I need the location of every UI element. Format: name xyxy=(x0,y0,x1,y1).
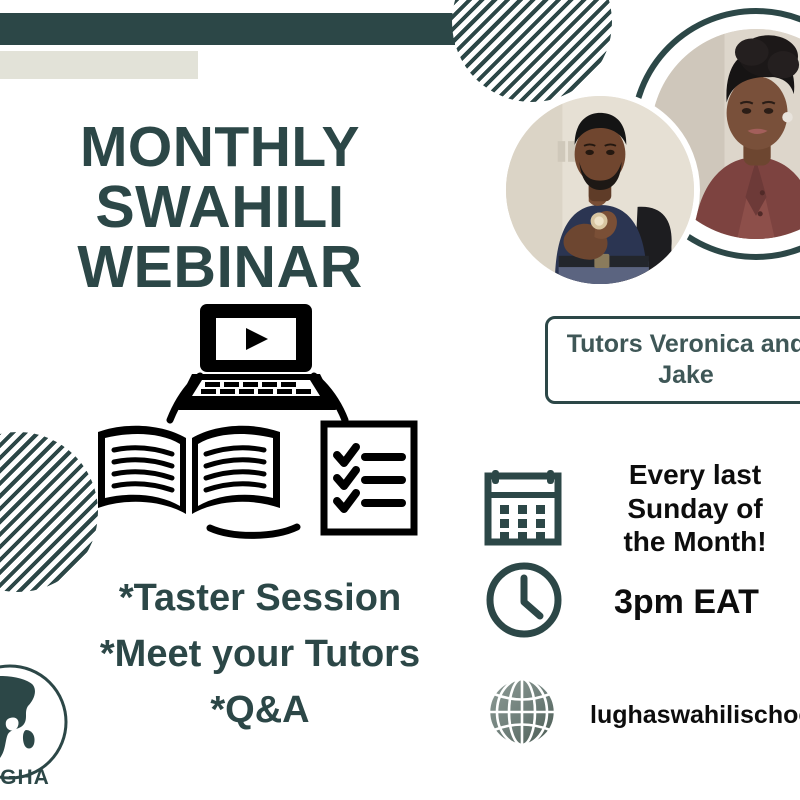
website-row[interactable]: lughaswahilischool. xyxy=(482,672,800,757)
brand-name: LUGHA xyxy=(0,766,72,790)
session-highlights-list: *Taster Session *Meet your Tutors *Q&A xyxy=(40,570,480,739)
schedule-time-row: 3pm EAT xyxy=(484,560,759,645)
schedule-date-text: Every last Sunday of the Month! xyxy=(590,458,800,559)
webinar-poster: MONTHLY SWAHILI WEBINAR xyxy=(0,0,800,800)
globe-icon xyxy=(482,672,562,757)
calendar-icon xyxy=(484,466,562,551)
checklist-icon xyxy=(324,424,414,532)
list-item: *Meet your Tutors xyxy=(40,626,480,682)
website-text[interactable]: lughaswahilischool. xyxy=(590,700,800,730)
learning-cycle-graphic xyxy=(92,292,422,542)
top-teal-bar xyxy=(0,13,455,45)
laptop-play-icon xyxy=(174,304,340,410)
arc-bottom xyxy=(210,527,297,535)
beige-accent-bar xyxy=(0,51,198,79)
list-item: *Taster Session xyxy=(40,570,480,626)
schedule-date-row: Every last Sunday of the Month! xyxy=(484,458,800,559)
headline-line-2: SWAHILI WEBINAR xyxy=(0,177,480,299)
headline-line-1: MONTHLY xyxy=(0,118,480,177)
open-book-icon xyxy=(98,426,280,514)
tutor-jake-photo xyxy=(500,90,700,290)
schedule-time-text: 3pm EAT xyxy=(614,582,759,623)
page-title: MONTHLY SWAHILI WEBINAR xyxy=(0,118,480,298)
list-item: *Q&A xyxy=(40,682,480,738)
striped-circle-decoration-top xyxy=(452,0,612,102)
tutors-label-box: Tutors Veronica and Jake xyxy=(545,316,800,404)
clock-icon xyxy=(484,560,564,645)
striped-circle-decoration-left xyxy=(0,432,98,592)
